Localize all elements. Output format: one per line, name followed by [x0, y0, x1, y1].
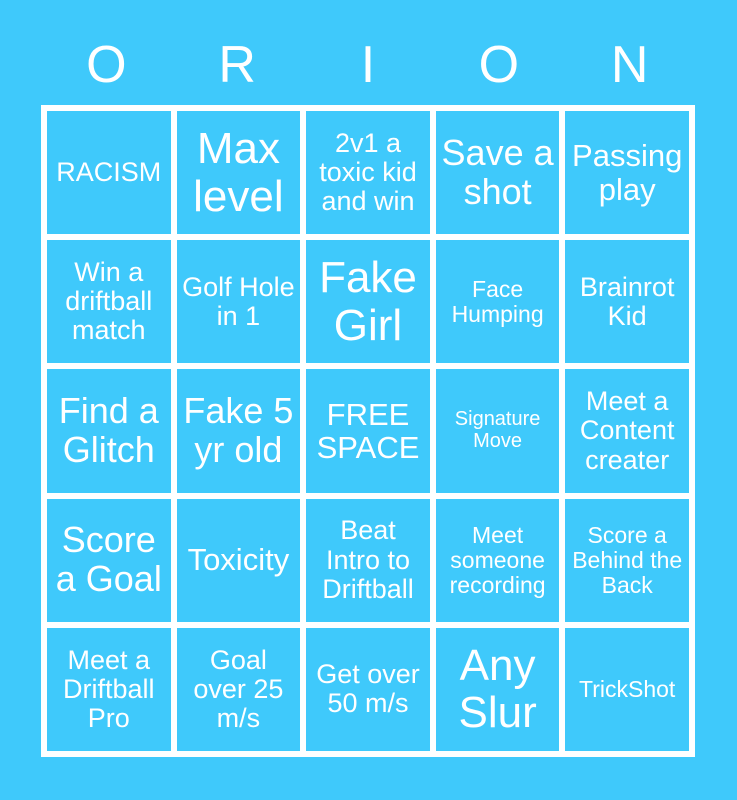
- header-letter-4: O: [433, 28, 564, 102]
- bingo-cell-r3c4[interactable]: Signature Move: [436, 369, 560, 492]
- bingo-cell-label: Golf Hole in 1: [181, 273, 297, 331]
- bingo-cell-label: Fake 5 yr old: [181, 392, 297, 470]
- bingo-cell-r2c3[interactable]: Fake Girl: [306, 240, 430, 363]
- bingo-cell-label: Passing play: [569, 139, 685, 206]
- bingo-cell-r4c1[interactable]: Score a Goal: [47, 499, 171, 622]
- bingo-cell-label: Any Slur: [440, 642, 556, 737]
- header-letter-5: N: [564, 28, 695, 102]
- bingo-cell-label: Face Humping: [440, 277, 556, 327]
- bingo-cell-r4c4[interactable]: Meet someone recording: [436, 499, 560, 622]
- bingo-cell-r1c2[interactable]: Max level: [177, 111, 301, 234]
- bingo-cell-label: Score a Goal: [51, 521, 167, 599]
- bingo-cell-label: TrickShot: [569, 677, 685, 702]
- header-letter-3: I: [303, 28, 434, 102]
- bingo-cell-r5c2[interactable]: Goal over 25 m/s: [177, 628, 301, 751]
- bingo-cell-r5c3[interactable]: Get over 50 m/s: [306, 628, 430, 751]
- bingo-cell-label: Get over 50 m/s: [310, 660, 426, 718]
- bingo-header: O R I O N: [41, 28, 695, 102]
- header-letter-2: R: [172, 28, 303, 102]
- bingo-cell-r3c1[interactable]: Find a Glitch: [47, 369, 171, 492]
- bingo-card: O R I O N RACISMMax level2v1 a toxic kid…: [0, 0, 737, 800]
- bingo-cell-label: Signature Move: [440, 409, 556, 452]
- bingo-cell-label: Goal over 25 m/s: [181, 646, 297, 733]
- bingo-cell-r2c2[interactable]: Golf Hole in 1: [177, 240, 301, 363]
- bingo-cell-label: Max level: [181, 125, 297, 220]
- bingo-cell-r4c5[interactable]: Score a Behind the Back: [565, 499, 689, 622]
- bingo-cell-r1c5[interactable]: Passing play: [565, 111, 689, 234]
- bingo-cell-r1c1[interactable]: RACISM: [47, 111, 171, 234]
- bingo-cell-r4c2[interactable]: Toxicity: [177, 499, 301, 622]
- bingo-cell-label: Fake Girl: [310, 254, 426, 349]
- header-letter-1: O: [41, 28, 172, 102]
- bingo-cell-label: 2v1 a toxic kid and win: [310, 129, 426, 216]
- bingo-cell-label: Find a Glitch: [51, 392, 167, 470]
- bingo-cell-label: Beat Intro to Driftball: [310, 516, 426, 603]
- bingo-cell-r1c3[interactable]: 2v1 a toxic kid and win: [306, 111, 430, 234]
- bingo-cell-free-space[interactable]: FREE SPACE: [306, 369, 430, 492]
- bingo-cell-r3c5[interactable]: Meet a Content creater: [565, 369, 689, 492]
- bingo-cell-label: FREE SPACE: [310, 398, 426, 465]
- bingo-cell-label: Meet someone recording: [440, 523, 556, 597]
- bingo-cell-label: Toxicity: [181, 543, 297, 576]
- bingo-cell-r1c4[interactable]: Save a shot: [436, 111, 560, 234]
- bingo-cell-label: Meet a Content creater: [569, 387, 685, 474]
- bingo-cell-label: Save a shot: [440, 134, 556, 212]
- bingo-cell-r5c5[interactable]: TrickShot: [565, 628, 689, 751]
- bingo-cell-label: Win a driftball match: [51, 258, 167, 345]
- bingo-cell-label: RACISM: [51, 158, 167, 187]
- bingo-cell-r3c2[interactable]: Fake 5 yr old: [177, 369, 301, 492]
- bingo-cell-r5c4[interactable]: Any Slur: [436, 628, 560, 751]
- bingo-cell-label: Score a Behind the Back: [569, 523, 685, 597]
- bingo-cell-label: Meet a Driftball Pro: [51, 646, 167, 733]
- bingo-cell-r4c3[interactable]: Beat Intro to Driftball: [306, 499, 430, 622]
- bingo-cell-label: Brainrot Kid: [569, 273, 685, 331]
- bingo-cell-r5c1[interactable]: Meet a Driftball Pro: [47, 628, 171, 751]
- bingo-grid: RACISMMax level2v1 a toxic kid and winSa…: [41, 105, 695, 757]
- bingo-cell-r2c4[interactable]: Face Humping: [436, 240, 560, 363]
- bingo-cell-r2c5[interactable]: Brainrot Kid: [565, 240, 689, 363]
- bingo-cell-r2c1[interactable]: Win a driftball match: [47, 240, 171, 363]
